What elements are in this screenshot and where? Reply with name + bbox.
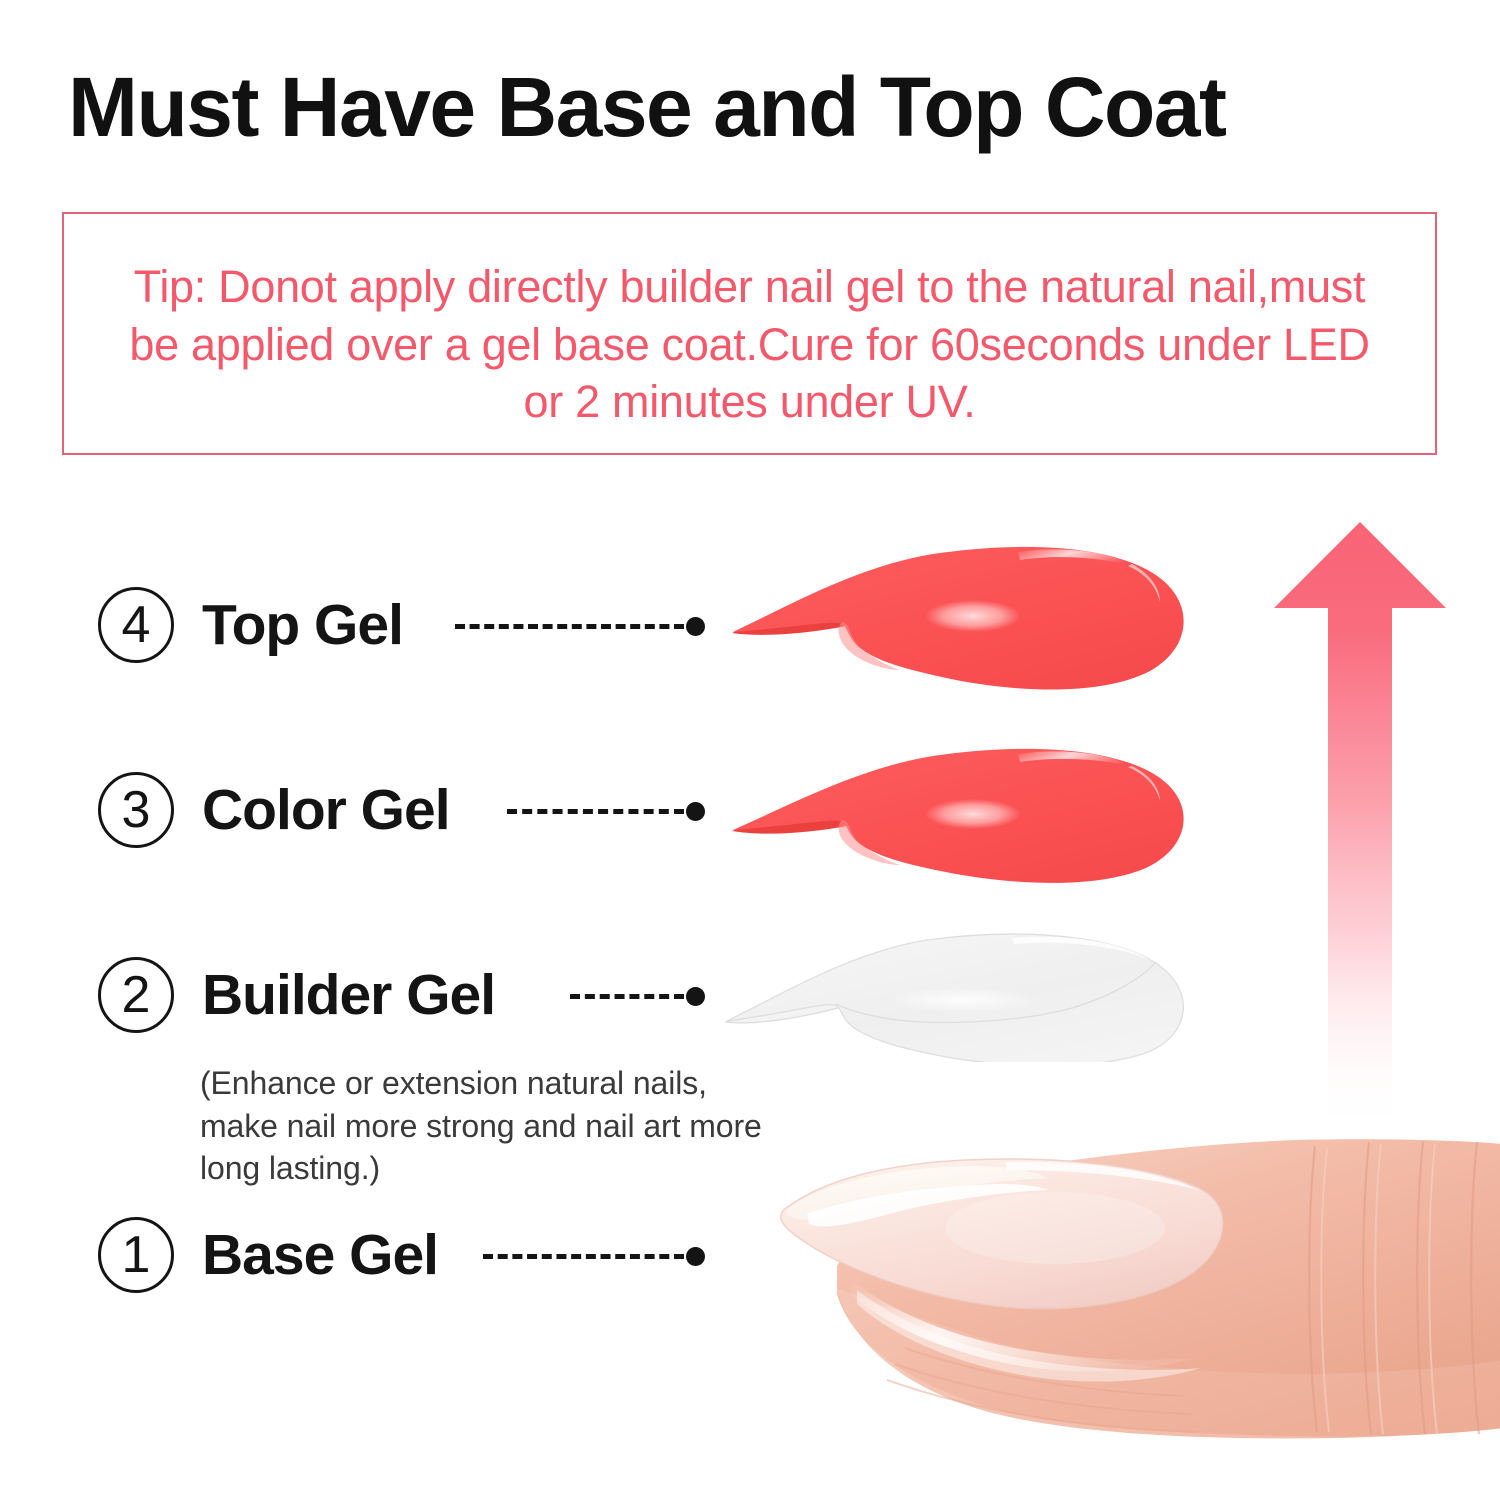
gel-swatch-color-gel bbox=[728, 728, 1198, 903]
dashed-line bbox=[570, 994, 684, 999]
fingertip-photo bbox=[755, 1098, 1500, 1500]
gel-swatch-top-gel bbox=[728, 520, 1198, 710]
dashed-line bbox=[483, 1254, 684, 1259]
step-number-badge: 2 bbox=[98, 957, 174, 1033]
tip-callout-box: Tip: Donot apply directly builder nail g… bbox=[62, 212, 1437, 455]
step-note-builder-gel: (Enhance or extension natural nails, mak… bbox=[200, 1062, 780, 1190]
leader-line-color-gel bbox=[507, 800, 705, 822]
step-number-badge: 4 bbox=[98, 587, 174, 663]
dashed-line bbox=[455, 624, 684, 629]
step-number-badge: 3 bbox=[98, 772, 174, 848]
leader-dot bbox=[686, 1247, 705, 1266]
step-label-base-gel: Base Gel bbox=[202, 1222, 438, 1288]
leader-dot bbox=[686, 802, 705, 821]
step-row-base-gel: 1 Base Gel bbox=[98, 1215, 438, 1295]
leader-line-base-gel bbox=[483, 1245, 705, 1267]
step-number-badge: 1 bbox=[98, 1217, 174, 1293]
gel-swatch-builder-gel bbox=[712, 922, 1212, 1062]
step-label-builder-gel: Builder Gel bbox=[202, 962, 495, 1028]
step-label-top-gel: Top Gel bbox=[202, 592, 403, 658]
leader-dot bbox=[686, 617, 705, 636]
step-row-top-gel: 4 Top Gel bbox=[98, 585, 403, 665]
tip-text: Tip: Donot apply directly builder nail g… bbox=[114, 258, 1385, 431]
leader-dot bbox=[686, 987, 705, 1006]
page-title: Must Have Base and Top Coat bbox=[68, 62, 1448, 153]
infographic-canvas: Must Have Base and Top Coat Tip: Donot a… bbox=[0, 0, 1500, 1500]
dashed-line bbox=[507, 809, 684, 814]
step-row-builder-gel: 2 Builder Gel bbox=[98, 955, 495, 1035]
step-row-color-gel: 3 Color Gel bbox=[98, 770, 450, 850]
up-arrow-gradient-icon bbox=[1270, 518, 1450, 1133]
leader-line-builder-gel bbox=[570, 985, 705, 1007]
leader-line-top-gel bbox=[455, 615, 705, 637]
step-label-color-gel: Color Gel bbox=[202, 777, 450, 843]
